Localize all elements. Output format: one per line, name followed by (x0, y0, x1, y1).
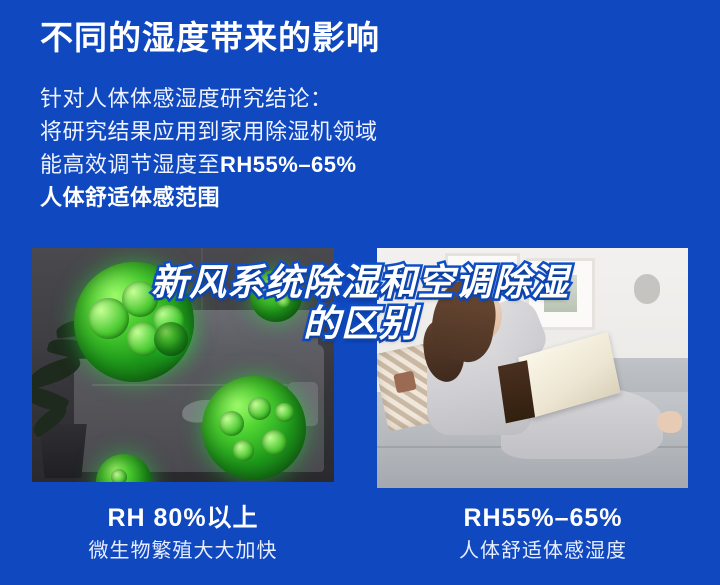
microbe-cluster (250, 270, 302, 322)
microbe-cluster (154, 322, 188, 356)
plant-leaf (32, 354, 84, 390)
caption-high-humidity: RH 80%以上 微生物繁殖大大加快 (0, 502, 366, 566)
bright-room-illustration (377, 248, 688, 488)
caption-comfort-humidity: RH55%–65% 人体舒适体感湿度 (366, 502, 720, 566)
microbe-bump (122, 281, 158, 317)
poster-canvas: 不同的湿度带来的影响 针对人体体感湿度研究结论： 将研究结果应用到家用除湿机领域… (0, 0, 720, 585)
caption-row: RH 80%以上 微生物繁殖大大加快 RH55%–65% 人体舒适体感湿度 (0, 502, 720, 566)
caption-description: 人体舒适体感湿度 (366, 536, 720, 566)
photo-panel-comfort-humidity (377, 248, 688, 488)
photo-panel-high-humidity (32, 248, 334, 482)
microbe-cluster (202, 376, 306, 480)
microbe-bump (219, 411, 244, 436)
microbe-bump (277, 295, 291, 309)
person-foot (657, 411, 682, 433)
photo-panels (0, 0, 720, 585)
caption-value: RH55%–65% (366, 502, 720, 534)
wall-speaker-icon (634, 274, 660, 304)
caption-value: RH 80%以上 (0, 502, 366, 534)
microbe-bump (111, 469, 128, 482)
dark-room-illustration (32, 248, 334, 482)
microbe-bump (248, 397, 271, 420)
caption-description: 微生物繁殖大大加快 (0, 536, 366, 566)
microbe-bump (275, 403, 294, 422)
microbe-bump (233, 440, 254, 461)
microbe-bump (261, 282, 277, 298)
microbe-bump (262, 430, 287, 455)
